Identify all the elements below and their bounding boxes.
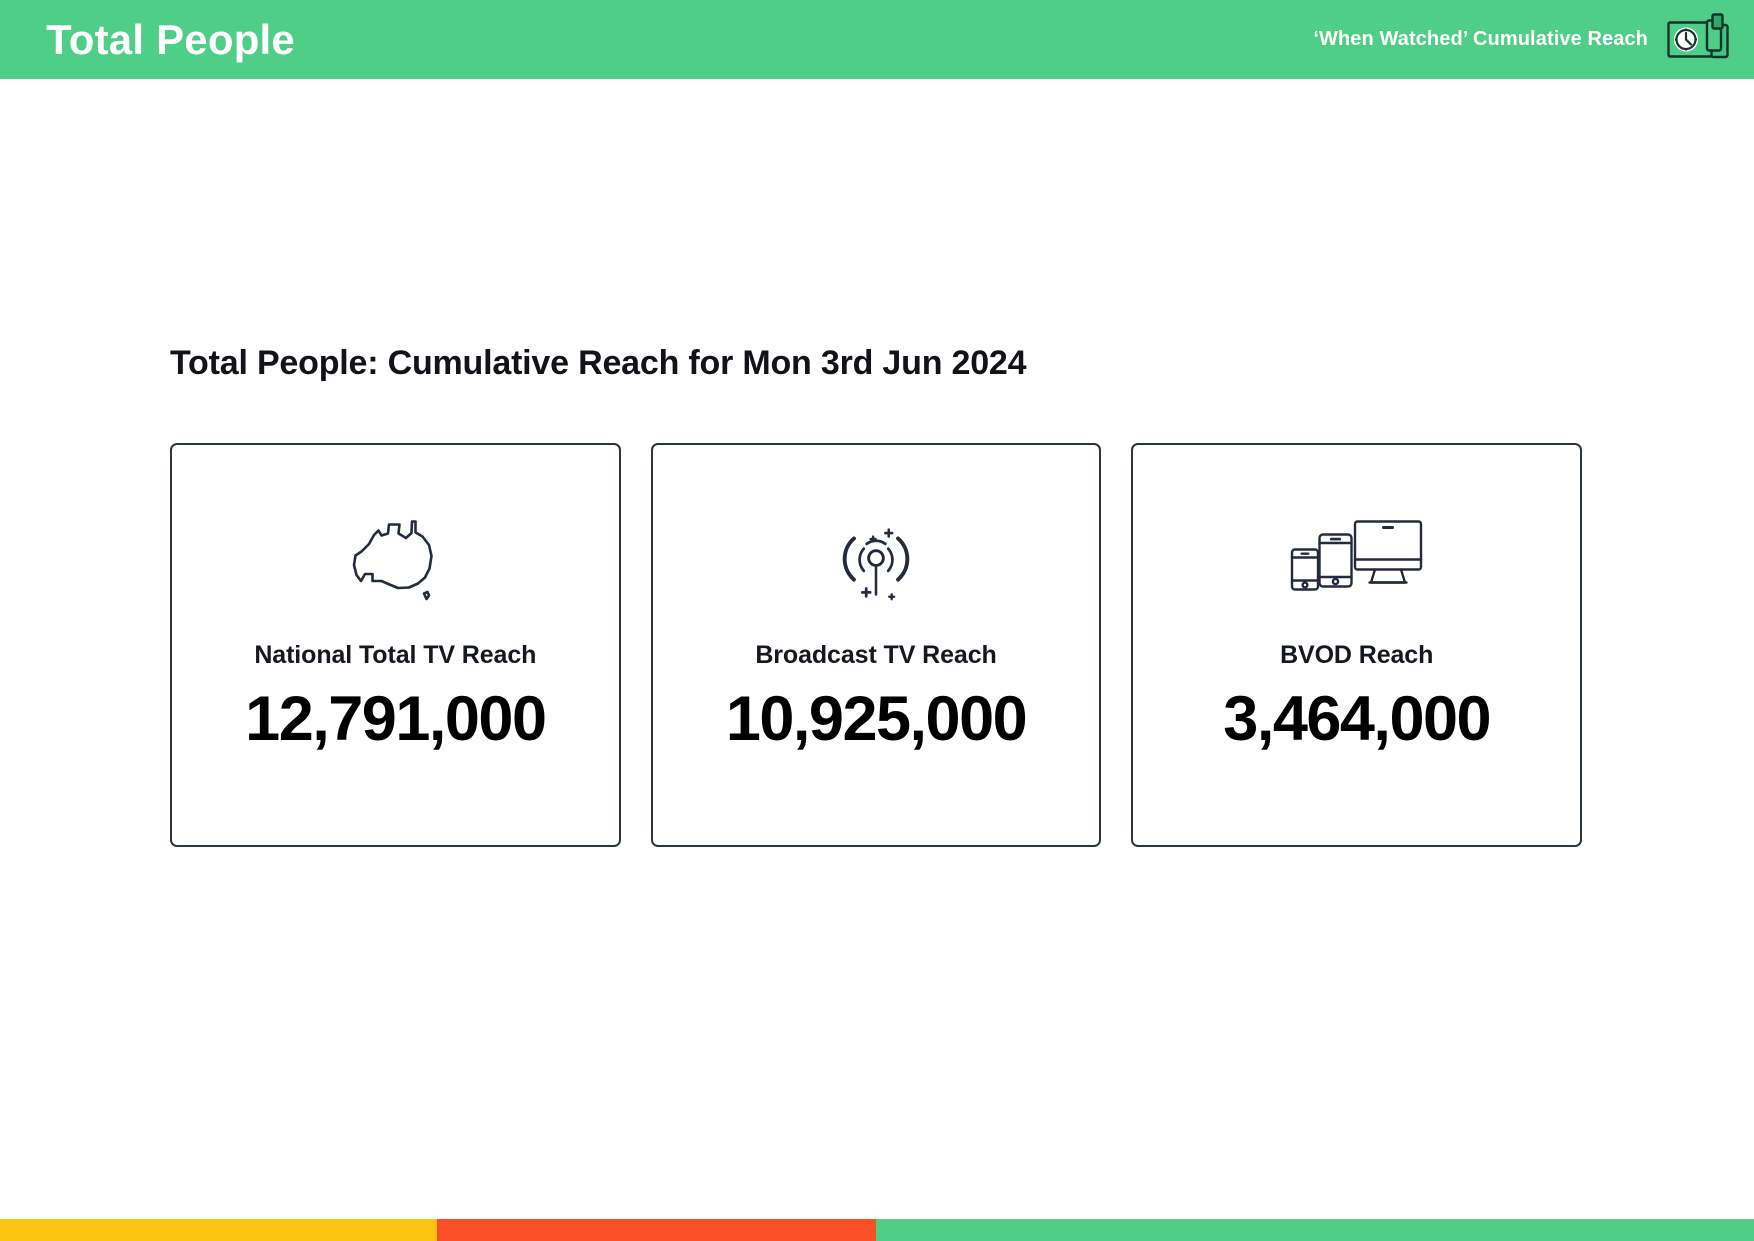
footer-segment-yellow [0,1219,437,1241]
metric-card-bvod[interactable]: BVOD Reach 3,464,000 [1131,443,1582,847]
header-title: Total People [46,19,295,61]
footer-segment-orange [437,1219,876,1241]
header-subtitle: ‘When Watched’ Cumulative Reach [1313,28,1648,51]
metric-card-label: National Total TV Reach [254,641,536,670]
tv-clock-devices-icon [1666,12,1732,68]
australia-map-icon [343,513,447,609]
metric-card-label: Broadcast TV Reach [755,641,996,670]
footer-color-bar [0,1219,1754,1241]
metric-card-value: 3,464,000 [1223,688,1490,751]
main-content: Total People: Cumulative Reach for Mon 3… [0,79,1754,1203]
app-header: Total People ‘When Watched’ Cumulative R… [0,0,1754,79]
metric-card-group: National Total TV Reach 12,791,000 [170,443,1582,847]
footer-segment-green [876,1219,1754,1241]
header-right-group: ‘When Watched’ Cumulative Reach [1313,12,1732,68]
metric-card-value: 10,925,000 [726,688,1026,751]
broadcast-antenna-icon [827,513,925,609]
metric-card-value: 12,791,000 [245,688,545,751]
metric-card-label: BVOD Reach [1280,641,1433,670]
metric-card-broadcast-tv[interactable]: Broadcast TV Reach 10,925,000 [651,443,1102,847]
metric-card-national-total-tv[interactable]: National Total TV Reach 12,791,000 [170,443,621,847]
page-title: Total People: Cumulative Reach for Mon 3… [170,344,1026,383]
multi-device-icon [1289,513,1425,609]
